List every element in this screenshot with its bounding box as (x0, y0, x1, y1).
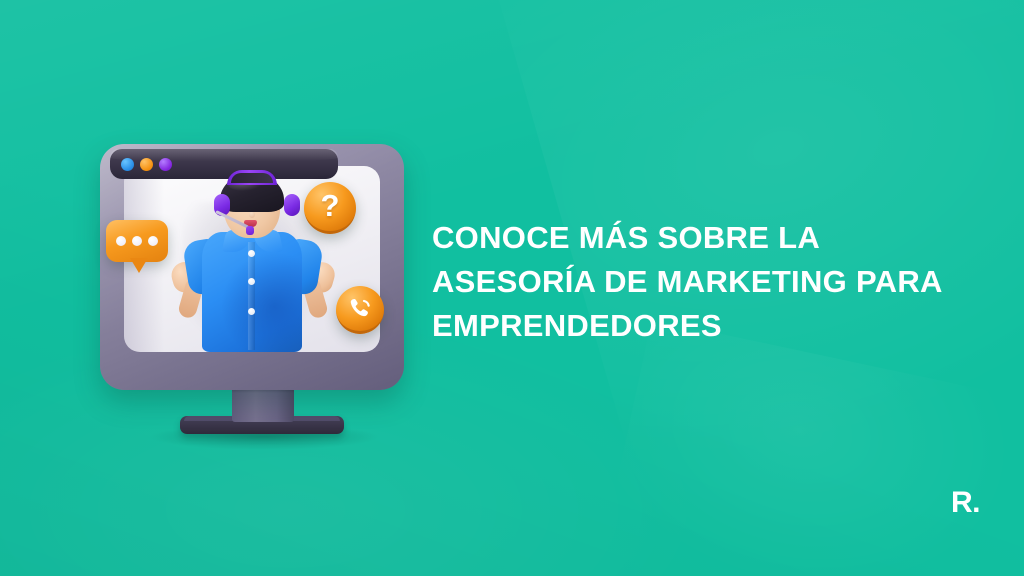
chat-dot (148, 236, 158, 246)
shirt-placket (248, 242, 255, 350)
question-mark-icon: ? (321, 190, 340, 221)
shirt-button (248, 278, 255, 285)
question-mark-badge: ? (304, 182, 356, 234)
headline-line-3: EMPRENDEDORES (432, 304, 984, 348)
headline: CONOCE MÁS SOBRE LA ASESORÍA DE MARKETIN… (432, 216, 984, 348)
chat-dot (132, 236, 142, 246)
nose (249, 211, 255, 218)
phone-support-badge (336, 286, 384, 334)
shirt-button (248, 250, 255, 257)
background-glow-corner (598, 319, 1024, 576)
headphone-headband-inner (231, 173, 273, 183)
headset-mic-tip (246, 226, 254, 235)
chat-dot (116, 236, 126, 246)
promo-banner: ? CONOCE MÁS SOBRE LA ASESORÍA DE MARKET… (0, 0, 1024, 576)
phone-icon (346, 295, 374, 323)
headline-line-1: CONOCE MÁS SOBRE LA (432, 216, 984, 260)
brand-logo: R. (951, 488, 980, 518)
chat-bubble-dots (106, 220, 168, 262)
shirt-button (248, 308, 255, 315)
illustration-3d-support-agent: ? (96, 136, 426, 446)
headphone-earcup-right (284, 194, 300, 216)
headline-line-2: ASESORÍA DE MARKETING PARA (432, 260, 984, 304)
